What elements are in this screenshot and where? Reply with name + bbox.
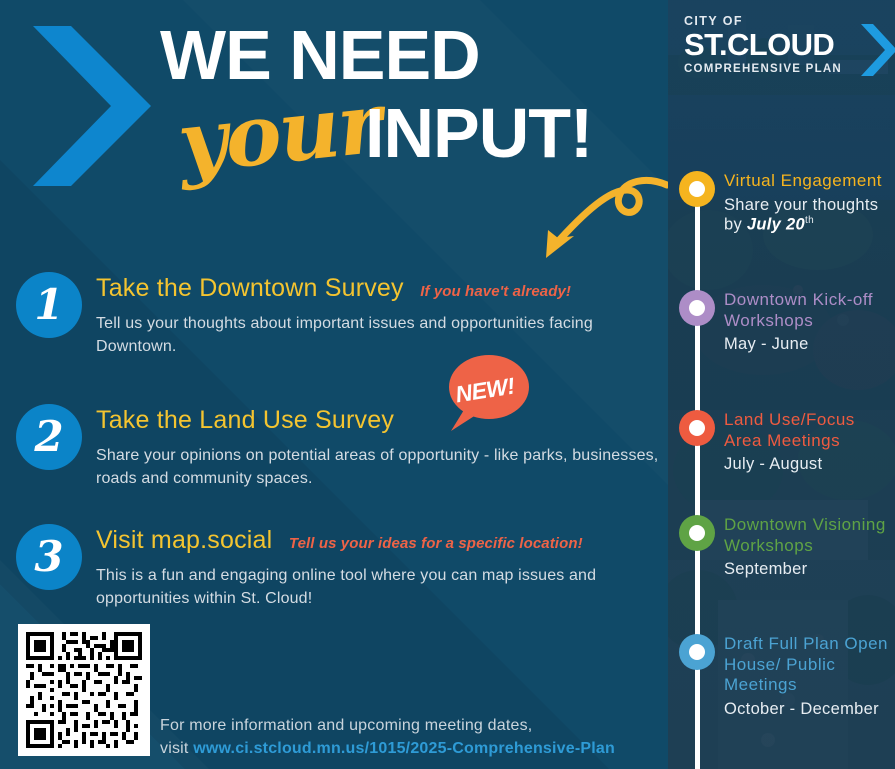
headline-line1: WE NEED — [160, 22, 660, 89]
timeline-date: Share your thoughts by July 20th — [724, 196, 893, 235]
step-tagline: If you have't already! — [420, 283, 571, 300]
step-item: 3 Visit map.social Tell us your ideas fo… — [16, 524, 666, 610]
headline-line2: INPUT! — [365, 93, 592, 173]
step-title[interactable]: Take the Downtown Survey — [96, 274, 404, 302]
logo-subtitle: COMPREHENSIVE PLAN — [684, 63, 889, 75]
timeline-title: Virtual Engagement — [724, 171, 893, 192]
timeline-dot — [679, 290, 715, 326]
timeline-date: July - August — [724, 455, 893, 474]
main-panel: WE NEED your INPUT! 1 Take the Downtown … — [0, 0, 668, 769]
timeline-panel: CITY OF ST.CLOUD COMPREHENSIVE PLAN Virt… — [668, 0, 895, 769]
timeline-date: October - December — [724, 700, 893, 719]
timeline-dot — [679, 515, 715, 551]
footer: For more information and upcoming meetin… — [160, 714, 660, 760]
chevron-right-icon — [33, 26, 151, 186]
logo-city-label: CITY OF — [684, 14, 889, 28]
timeline-dot — [679, 410, 715, 446]
footer-url-link[interactable]: www.ci.stcloud.mn.us/1015/2025-Comprehen… — [193, 740, 615, 757]
chevron-right-icon — [861, 24, 895, 76]
footer-visit-label: visit — [160, 740, 193, 757]
timeline-title: Draft Full Plan Open House/ Public Meeti… — [724, 634, 893, 696]
timeline-dot — [679, 634, 715, 670]
timeline-date: September — [724, 560, 893, 579]
timeline-item: Draft Full Plan Open House/ Public Meeti… — [668, 634, 895, 719]
step-number-badge: 3 — [16, 524, 82, 590]
headline: WE NEED your INPUT! — [160, 22, 660, 185]
timeline-item: Downtown Visioning Workshops September — [668, 515, 895, 579]
qr-code-icon[interactable] — [18, 624, 150, 756]
step-description: Share your opinions on potential areas o… — [96, 445, 666, 490]
step-item: 1 Take the Downtown Survey If you have't… — [16, 272, 666, 358]
curved-arrow-down-left-icon — [528, 168, 668, 268]
headline-script-word: your — [173, 73, 384, 193]
step-tagline: Tell us your ideas for a specific locati… — [289, 535, 583, 552]
logo: CITY OF ST.CLOUD COMPREHENSIVE PLAN — [684, 14, 889, 75]
footer-line1: For more information and upcoming meetin… — [160, 714, 660, 737]
timeline-item: Virtual Engagement Share your thoughts b… — [668, 171, 895, 234]
timeline-dot — [679, 171, 715, 207]
step-item: 2 Take the Land Use Survey Share your op… — [16, 404, 666, 490]
timeline-item: Downtown Kick-off Workshops May - June — [668, 290, 895, 354]
timeline-title: Downtown Kick-off Workshops — [724, 290, 893, 331]
step-title[interactable]: Take the Land Use Survey — [96, 406, 394, 434]
poster-root: WE NEED your INPUT! 1 Take the Downtown … — [0, 0, 895, 769]
step-number-badge: 2 — [16, 404, 82, 470]
new-badge: NEW! — [445, 353, 531, 433]
timeline-date: May - June — [724, 335, 893, 354]
step-description: Tell us your thoughts about important is… — [96, 313, 666, 358]
timeline-title: Land Use/Focus Area Meetings — [724, 410, 893, 451]
timeline-title: Downtown Visioning Workshops — [724, 515, 893, 556]
step-title[interactable]: Visit map.social — [96, 526, 272, 554]
timeline-item: Land Use/Focus Area Meetings July - Augu… — [668, 410, 895, 474]
step-description: This is a fun and engaging online tool w… — [96, 565, 666, 610]
step-number-badge: 1 — [16, 272, 82, 338]
logo-name: ST.CLOUD — [684, 29, 889, 60]
